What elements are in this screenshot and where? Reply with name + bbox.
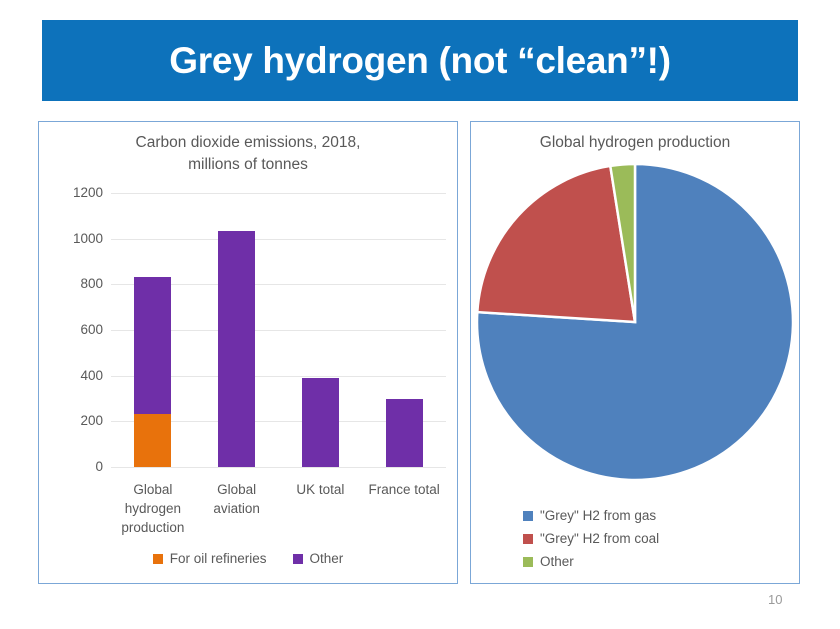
pie-chart-title: Global hydrogen production bbox=[471, 122, 799, 154]
pie-slice[interactable] bbox=[477, 166, 635, 322]
legend-swatch-for-oil-refineries bbox=[153, 554, 163, 564]
legend-item-grey-h2-from-gas[interactable]: "Grey" H2 from gas bbox=[523, 508, 659, 523]
legend-label-pie-other: Other bbox=[540, 554, 574, 569]
legend-item-grey-h2-from-coal[interactable]: "Grey" H2 from coal bbox=[523, 531, 659, 546]
gridline bbox=[111, 467, 446, 468]
y-axis-tick-label: 1000 bbox=[51, 231, 103, 246]
legend-swatch-grey-h2-from-coal bbox=[523, 534, 533, 544]
slide-page-number: 10 bbox=[768, 592, 782, 607]
pie-chart-svg bbox=[471, 162, 799, 487]
gridline bbox=[111, 239, 446, 240]
legend-item-other[interactable]: Other bbox=[293, 551, 344, 566]
x-axis-category-label: France total bbox=[356, 480, 452, 499]
x-axis-category-label-line: hydrogen bbox=[105, 499, 201, 518]
bar-segment[interactable] bbox=[134, 414, 171, 467]
legend-swatch-pie-other bbox=[523, 557, 533, 567]
bar-segment[interactable] bbox=[134, 277, 171, 414]
x-axis-category-label-line: production bbox=[105, 518, 201, 537]
y-axis-tick-label: 800 bbox=[51, 276, 103, 291]
legend-label-for-oil-refineries: For oil refineries bbox=[170, 551, 267, 566]
x-axis-category-label-line: UK total bbox=[273, 480, 369, 499]
bar-chart-legend: For oil refineries Other bbox=[39, 551, 457, 566]
legend-item-for-oil-refineries[interactable]: For oil refineries bbox=[153, 551, 267, 566]
bar-segment[interactable] bbox=[302, 378, 339, 467]
bar-chart-panel[interactable]: Carbon dioxide emissions, 2018, millions… bbox=[38, 121, 458, 584]
bar-chart-plot-area: 020040060080010001200Globalhydrogenprodu… bbox=[39, 122, 457, 583]
x-axis-category-label-line: France total bbox=[356, 480, 452, 499]
y-axis-tick-label: 600 bbox=[51, 322, 103, 337]
legend-label-other: Other bbox=[310, 551, 344, 566]
x-axis-category-label: Globalaviation bbox=[189, 480, 285, 518]
y-axis-tick-label: 1200 bbox=[51, 185, 103, 200]
y-axis-tick: 0 bbox=[39, 459, 103, 475]
legend-swatch-other bbox=[293, 554, 303, 564]
pie-chart-legend: "Grey" H2 from gas "Grey" H2 from coal O… bbox=[523, 508, 659, 569]
gridline bbox=[111, 193, 446, 194]
bar-segment[interactable] bbox=[386, 399, 423, 467]
y-axis-tick: 600 bbox=[39, 322, 103, 338]
y-axis-tick-label: 200 bbox=[51, 413, 103, 428]
y-axis-tick: 800 bbox=[39, 276, 103, 292]
legend-item-other[interactable]: Other bbox=[523, 554, 659, 569]
legend-swatch-grey-h2-from-gas bbox=[523, 511, 533, 521]
y-axis-tick: 1000 bbox=[39, 231, 103, 247]
y-axis-tick: 200 bbox=[39, 413, 103, 429]
bar-segment[interactable] bbox=[218, 231, 255, 467]
slide-title-bar: Grey hydrogen (not “clean”!) bbox=[42, 20, 798, 101]
pie-chart-panel[interactable]: Global hydrogen production "Grey" H2 fro… bbox=[470, 121, 800, 584]
y-axis-tick: 1200 bbox=[39, 185, 103, 201]
x-axis-category-label: Globalhydrogenproduction bbox=[105, 480, 201, 537]
y-axis-tick-label: 0 bbox=[51, 459, 103, 474]
x-axis-category-label: UK total bbox=[273, 480, 369, 499]
legend-label-grey-h2-from-coal: "Grey" H2 from coal bbox=[540, 531, 659, 546]
legend-label-grey-h2-from-gas: "Grey" H2 from gas bbox=[540, 508, 656, 523]
x-axis-category-label-line: Global bbox=[189, 480, 285, 499]
x-axis-category-label-line: Global bbox=[105, 480, 201, 499]
y-axis-tick-label: 400 bbox=[51, 368, 103, 383]
y-axis-tick: 400 bbox=[39, 368, 103, 384]
page-title: Grey hydrogen (not “clean”!) bbox=[169, 40, 670, 82]
x-axis-category-label-line: aviation bbox=[189, 499, 285, 518]
pie-chart-plot-area bbox=[471, 162, 799, 487]
pie-chart-title-text: Global hydrogen production bbox=[471, 132, 799, 154]
